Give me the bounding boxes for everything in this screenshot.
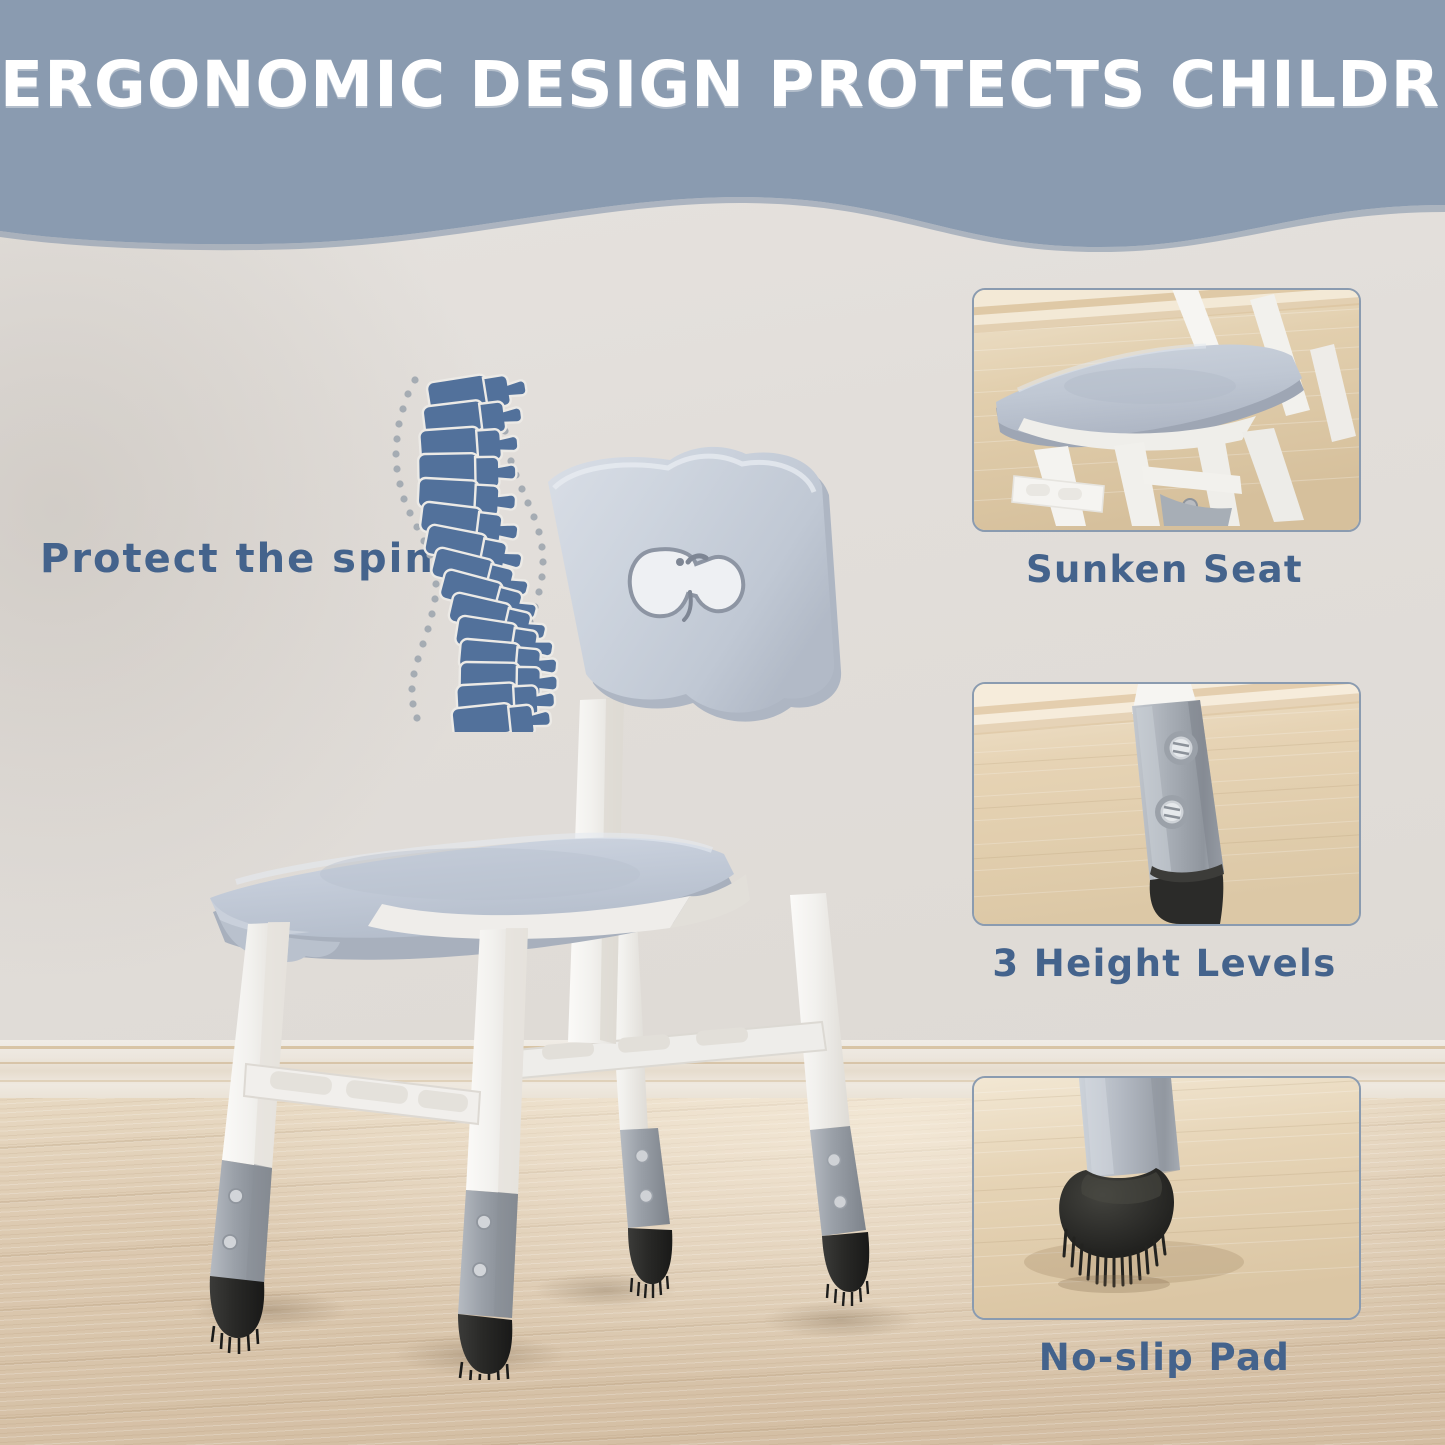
leg-shadow (762, 1301, 918, 1339)
no-slip-pad-photo (974, 1078, 1359, 1318)
feature-panel-no-slip-pad[interactable]: No-slip Pad (972, 1076, 1357, 1379)
screw-upper (1164, 731, 1198, 765)
header-banner: ERGONOMIC DESIGN PROTECTS CHILDREN (0, 0, 1445, 252)
feature-caption: 3 Height Levels (972, 942, 1357, 985)
chair-front-right-leg (458, 928, 528, 1380)
seat-pan (210, 836, 739, 962)
feature-image-frame (972, 1076, 1361, 1320)
chair-front-left-leg (210, 922, 290, 1354)
feature-image-frame (972, 288, 1361, 532)
rear-cross-brace (495, 1022, 826, 1080)
side-cross-brace (244, 1064, 480, 1124)
height-levels-photo (974, 684, 1359, 924)
screw-lower (1155, 795, 1189, 829)
feature-panel-height-levels[interactable]: 3 Height Levels (972, 682, 1357, 985)
feature-panel-sunken-seat[interactable]: Sunken Seat (972, 288, 1357, 591)
infographic-canvas: ERGONOMIC DESIGN PROTECTS CHILDREN Prote… (0, 0, 1445, 1445)
backrest-panel (548, 447, 841, 722)
feature-image-frame (972, 682, 1361, 926)
feature-caption: No-slip Pad (972, 1336, 1357, 1379)
chair-rear-legs (605, 893, 869, 1306)
banner-wave-shape (0, 0, 1445, 252)
page-title: ERGONOMIC DESIGN PROTECTS CHILDREN (0, 48, 1445, 121)
sunken-seat-photo (974, 290, 1359, 530)
feature-caption: Sunken Seat (972, 548, 1357, 591)
product-chair-image (150, 430, 930, 1380)
